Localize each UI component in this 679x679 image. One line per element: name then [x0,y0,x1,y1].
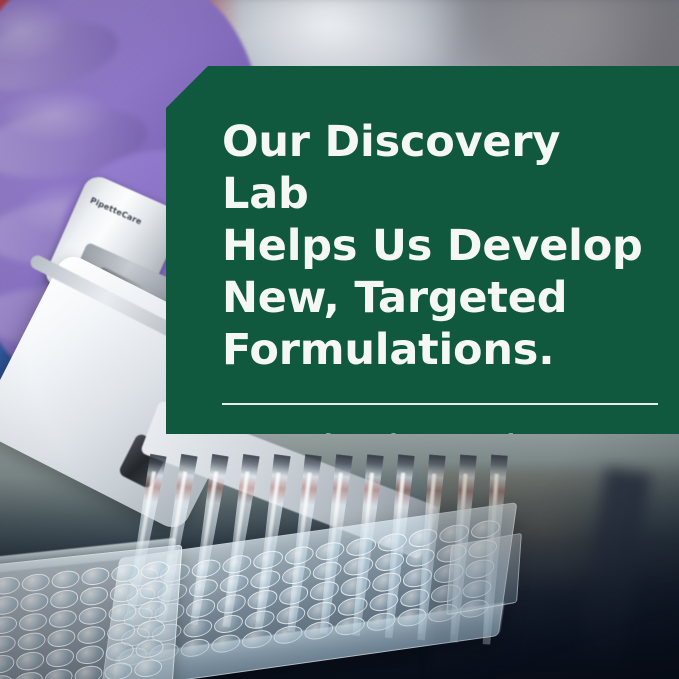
microplate-well [134,658,163,678]
microplate-well [48,609,77,629]
microplate-well [278,584,310,606]
microplate-well [74,664,103,679]
microplate-well [18,612,47,632]
microplate-well [340,576,372,598]
microplate-well [75,645,104,665]
microplate-well [345,536,377,558]
microplate-well [21,573,50,593]
microplate-well [17,631,46,651]
glove-finger [0,10,125,102]
microplate-well [190,558,222,580]
microplate-well [399,587,431,609]
microplate-well [343,556,375,578]
microplate-well [402,567,434,589]
panel-divider-rule [222,403,658,405]
microplate-well [50,589,79,609]
microplate-well [138,599,167,619]
microplate-well [306,600,338,622]
microplate-well [77,625,106,645]
microplate-well [45,648,74,668]
microplate-well [109,583,138,603]
microplate-well [0,595,19,615]
microplate-well [218,573,250,595]
microplate-well [275,604,307,626]
microplate-well [312,560,344,582]
microplate-well [0,634,16,654]
microplate-well [252,549,284,571]
microplate-well [44,667,73,679]
microplate-well [283,545,315,567]
microplate-well [14,670,43,679]
microplate-well [247,589,279,611]
microplate-well [136,619,165,639]
microplate-well [135,638,164,658]
microplate-well [185,597,217,619]
microplate-well [374,551,406,573]
microplate-well [249,569,281,591]
microplate-well [221,553,253,575]
microplate-well [108,602,137,622]
microplate-well [213,613,245,635]
microplate-well [140,560,169,580]
microplate-well [47,628,76,648]
microplate-well [314,540,346,562]
microplate-well [78,605,107,625]
microplate-well [16,651,45,671]
microplate-well [79,586,108,606]
microplate-well [376,532,408,554]
promo-graphic-canvas: PipetteCare Our Discovery Lab Helps Us D… [0,0,679,679]
microplate-well [0,615,18,635]
green-message-panel: Our Discovery Lab Helps Us Develop New, … [166,66,679,434]
microplate-well [244,608,276,630]
microplate-well [182,617,214,639]
microplate-well [371,571,403,593]
microplate-well [187,578,219,600]
microplate-well [280,564,312,586]
microplate-well [216,593,248,615]
microplate-well [104,661,133,679]
microplate-well [105,641,134,661]
microplate-well [368,591,400,613]
microplate-well [0,674,14,679]
microplate-well [0,576,20,596]
microplate-well [107,622,136,642]
microplate-well [0,654,15,674]
microplate-well [20,592,49,612]
microplate-well [139,580,168,600]
microplate-well [81,566,110,586]
microplate-well [337,595,369,617]
microplate-well [111,563,140,583]
panel-headline: Our Discovery Lab Helps Us Develop New, … [222,116,657,376]
microplate-well [309,580,341,602]
microplate-well [51,569,80,589]
microplate-secondary-well-grid [0,555,174,679]
